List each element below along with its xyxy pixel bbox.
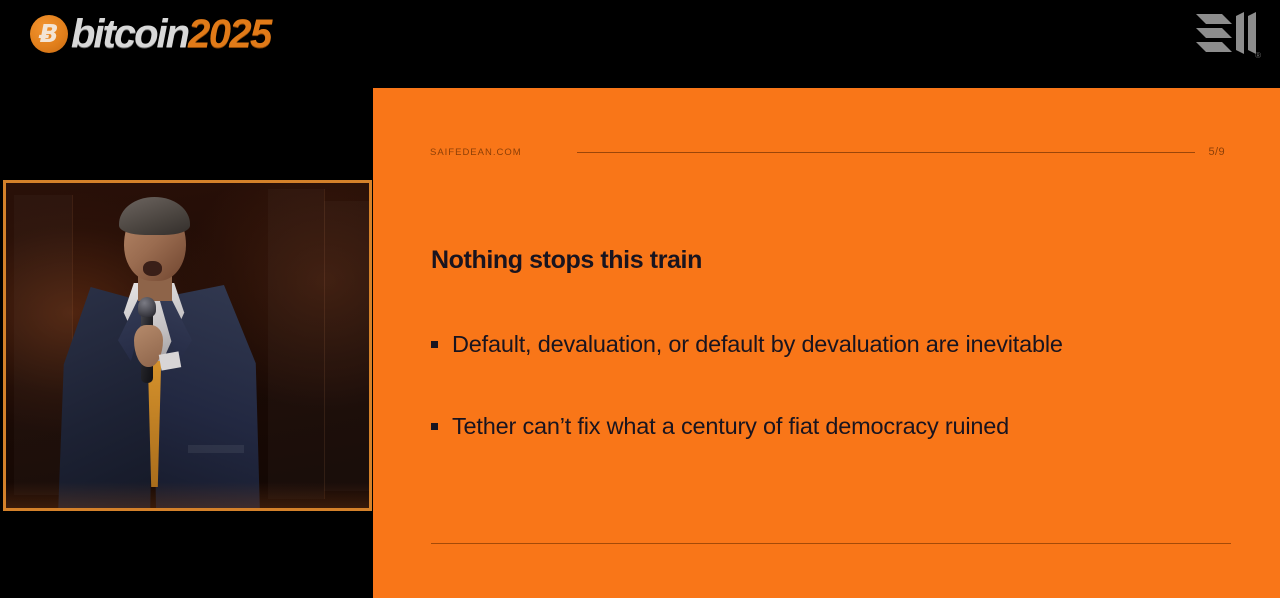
shirt-cuff xyxy=(159,351,181,370)
corporate-logo: ® xyxy=(1196,10,1258,58)
slide-page-number: 5/9 xyxy=(1209,146,1226,158)
jacket-pocket xyxy=(188,445,244,453)
square-bullet-icon xyxy=(431,423,438,430)
slide-header-rule xyxy=(577,152,1195,153)
branding-bar: Ƀ bitcoin 2025 ® xyxy=(0,0,1280,88)
presentation-slide: SAIFEDEAN.COM 5/9 Nothing stops this tra… xyxy=(373,88,1280,598)
list-item-label: Tether can’t fix what a century of fiat … xyxy=(452,413,1009,440)
presentation-stage: Ƀ bitcoin 2025 ® xyxy=(0,0,1280,598)
microphone-head-icon xyxy=(138,297,156,317)
list-item-label: Default, devaluation, or default by deva… xyxy=(452,331,1063,358)
square-bullet-icon xyxy=(431,341,438,348)
speaker-mouth xyxy=(143,261,162,276)
stage-floor-glow xyxy=(6,482,369,508)
slide-footer-rule xyxy=(431,543,1231,544)
slide-title: Nothing stops this train xyxy=(431,248,702,273)
event-logo-word: bitcoin xyxy=(71,14,188,54)
bitcoin-symbol-glyph: Ƀ xyxy=(39,21,58,46)
event-logo: Ƀ bitcoin 2025 xyxy=(30,8,271,60)
slide-site-label: SAIFEDEAN.COM xyxy=(430,147,522,158)
slide-header: SAIFEDEAN.COM 5/9 xyxy=(430,143,1225,161)
registered-trademark-icon: ® xyxy=(1255,52,1261,60)
speaker-hair xyxy=(119,197,190,235)
event-logo-year: 2025 xyxy=(188,14,271,54)
speaker-video-feed[interactable] xyxy=(3,180,372,511)
bitcoin-coin-icon: Ƀ xyxy=(30,15,68,53)
speaker-figure xyxy=(6,183,369,508)
slide-bullet-list: Default, devaluation, or default by deva… xyxy=(431,331,1231,495)
list-item: Default, devaluation, or default by deva… xyxy=(431,331,1231,358)
list-item: Tether can’t fix what a century of fiat … xyxy=(431,413,1231,440)
corporate-logo-glyph xyxy=(1196,10,1258,58)
